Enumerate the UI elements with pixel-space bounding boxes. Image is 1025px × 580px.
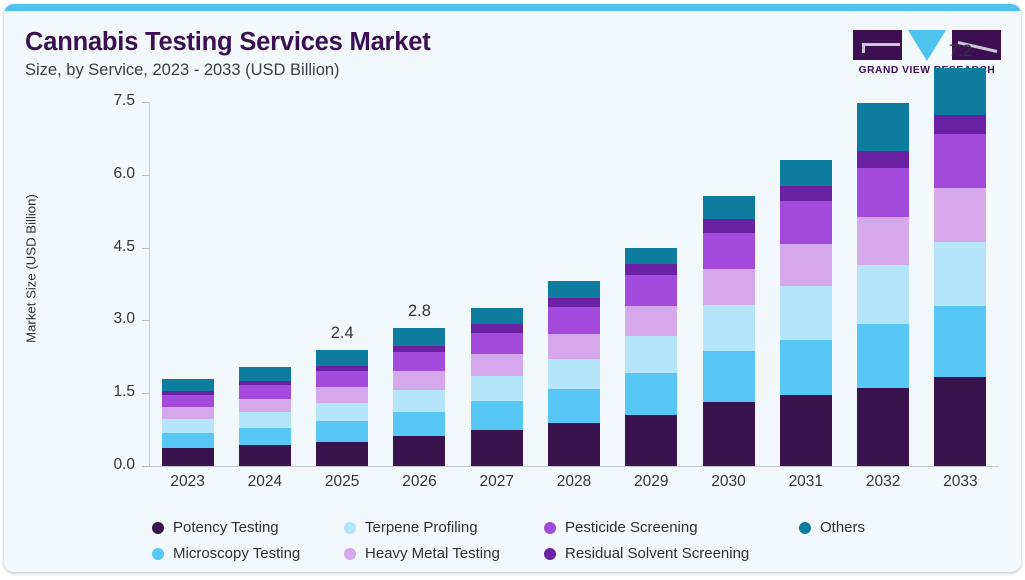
bar-segment: [548, 298, 600, 308]
legend-label: Others: [820, 519, 865, 536]
legend-label: Heavy Metal Testing: [365, 545, 500, 562]
bar-segment: [393, 371, 445, 389]
bar-value-label: 2.4: [302, 324, 382, 343]
legend-item[interactable]: Potency Testing: [152, 519, 279, 536]
bar-segment: [857, 265, 909, 325]
legend-label: Terpene Profiling: [365, 519, 478, 536]
bar-segment: [548, 307, 600, 333]
bar-segment: [857, 168, 909, 217]
bar-2031[interactable]: [780, 160, 832, 466]
bar-2024[interactable]: [239, 367, 291, 466]
bar-segment: [393, 390, 445, 412]
legend-color-swatch-icon: [544, 522, 556, 534]
legend-label: Residual Solvent Screening: [565, 545, 749, 562]
bar-segment: [857, 388, 909, 466]
bar-segment: [934, 115, 986, 134]
bar-2028[interactable]: [548, 281, 600, 466]
chart-card: Cannabis Testing Services Market Size, b…: [4, 4, 1021, 572]
x-axis-tick-label: 2033: [915, 473, 1005, 491]
bar-segment: [162, 407, 214, 419]
bar-segment: [625, 248, 677, 265]
legend-item[interactable]: Microscopy Testing: [152, 545, 300, 562]
bar-value-label: 7.2: [920, 42, 1000, 61]
bar-segment: [316, 442, 368, 466]
bar-segment: [316, 371, 368, 387]
bar-segment: [239, 385, 291, 399]
legend-color-swatch-icon: [544, 548, 556, 560]
bar-2026[interactable]: [393, 328, 445, 466]
bar-group: 2.42.87.2: [149, 102, 999, 466]
bar-segment: [548, 423, 600, 466]
bar-segment: [162, 433, 214, 448]
legend-label: Pesticide Screening: [565, 519, 698, 536]
bar-segment: [934, 188, 986, 242]
bar-segment: [703, 305, 755, 350]
legend-label: Potency Testing: [173, 519, 279, 536]
legend-item[interactable]: Others: [799, 519, 865, 536]
bar-segment: [934, 306, 986, 376]
bar-segment: [471, 333, 523, 355]
bar-segment: [625, 373, 677, 415]
legend-color-swatch-icon: [344, 548, 356, 560]
bar-segment: [625, 275, 677, 306]
bar-segment: [780, 244, 832, 287]
bar-segment: [393, 352, 445, 371]
legend-item[interactable]: Residual Solvent Screening: [544, 545, 749, 562]
legend-label: Microscopy Testing: [173, 545, 300, 562]
legend-color-swatch-icon: [344, 522, 356, 534]
y-axis-tick-label: 6.0: [83, 165, 135, 183]
y-axis-tick-label: 0.0: [83, 456, 135, 474]
bar-segment: [780, 340, 832, 395]
bar-segment: [934, 68, 986, 115]
chart-title: Cannabis Testing Services Market: [25, 28, 431, 57]
bar-segment: [934, 242, 986, 307]
legend-item[interactable]: Terpene Profiling: [344, 519, 478, 536]
bar-segment: [857, 217, 909, 265]
y-axis-tick-mark: [142, 175, 149, 176]
bar-segment: [239, 367, 291, 381]
bar-segment: [703, 196, 755, 219]
legend-item[interactable]: Pesticide Screening: [544, 519, 698, 536]
bar-segment: [548, 281, 600, 298]
legend-item[interactable]: Heavy Metal Testing: [344, 545, 500, 562]
bar-2023[interactable]: [162, 379, 214, 466]
bar-segment: [780, 395, 832, 466]
bar-segment: [548, 389, 600, 423]
bar-segment: [548, 359, 600, 390]
bar-segment: [471, 430, 523, 466]
bar-segment: [471, 376, 523, 402]
legend-color-swatch-icon: [152, 548, 164, 560]
plot-area: Market Size (USD Billion) 0.01.53.04.56.…: [4, 91, 1021, 501]
bar-segment: [934, 134, 986, 188]
y-axis-tick-mark: [142, 320, 149, 321]
chart-legend: Potency TestingMicroscopy TestingTerpene…: [4, 509, 1021, 565]
bar-segment: [703, 233, 755, 270]
legend-color-swatch-icon: [152, 522, 164, 534]
y-axis-tick-mark: [142, 466, 149, 467]
bar-segment: [625, 306, 677, 336]
y-axis-tick-mark: [142, 393, 149, 394]
bar-segment: [162, 419, 214, 433]
bar-segment: [471, 308, 523, 324]
chart-subtitle: Size, by Service, 2023 - 2033 (USD Billi…: [25, 61, 340, 80]
chart-header: Cannabis Testing Services Market Size, b…: [4, 11, 1021, 91]
bar-segment: [393, 412, 445, 436]
bar-2029[interactable]: [625, 248, 677, 466]
bar-value-label: 2.8: [379, 302, 459, 321]
y-axis-tick-label: 3.0: [83, 310, 135, 328]
bar-segment: [393, 436, 445, 466]
bar-segment: [316, 403, 368, 421]
bar-segment: [857, 324, 909, 388]
logo-left-block-icon: [853, 30, 902, 60]
accent-top-bar: [4, 4, 1021, 11]
bar-segment: [471, 324, 523, 332]
bar-2032[interactable]: [857, 103, 909, 466]
bar-segment: [162, 395, 214, 407]
bar-segment: [471, 401, 523, 430]
bar-segment: [703, 351, 755, 402]
bar-2030[interactable]: [703, 196, 755, 466]
y-axis-tick-mark: [142, 248, 149, 249]
bar-segment: [316, 350, 368, 366]
bar-segment: [239, 445, 291, 466]
y-axis-tick-label: 1.5: [83, 383, 135, 401]
bar-segment: [703, 269, 755, 305]
bar-2025[interactable]: [316, 350, 368, 466]
bar-segment: [162, 448, 214, 466]
bar-segment: [780, 160, 832, 186]
bar-2027[interactable]: [471, 308, 523, 466]
bar-segment: [857, 151, 909, 168]
y-axis-ticks: 0.01.53.04.56.07.5: [83, 91, 135, 501]
y-axis-tick-label: 4.5: [83, 238, 135, 256]
legend-color-swatch-icon: [799, 522, 811, 534]
bar-segment: [703, 402, 755, 466]
bar-segment: [471, 354, 523, 375]
bar-segment: [780, 186, 832, 201]
bar-segment: [625, 415, 677, 466]
bar-segment: [239, 412, 291, 428]
bar-segment: [548, 334, 600, 359]
y-axis-tick-mark: [142, 102, 149, 103]
bar-segment: [934, 377, 986, 466]
y-axis-tick-label: 7.5: [83, 92, 135, 110]
bar-segment: [703, 219, 755, 233]
bar-2033[interactable]: [934, 68, 986, 466]
bar-segment: [393, 346, 445, 353]
y-axis-label: Market Size (USD Billion): [24, 154, 39, 384]
bar-segment: [393, 328, 445, 346]
bar-segment: [857, 103, 909, 151]
bar-segment: [625, 264, 677, 275]
bar-segment: [780, 201, 832, 244]
bar-segment: [239, 399, 291, 412]
bar-segment: [625, 336, 677, 373]
x-axis-line: [149, 466, 999, 467]
bar-segment: [316, 387, 368, 403]
bar-segment: [162, 379, 214, 391]
bar-segment: [780, 286, 832, 339]
bar-segment: [239, 428, 291, 445]
bar-segment: [316, 421, 368, 441]
